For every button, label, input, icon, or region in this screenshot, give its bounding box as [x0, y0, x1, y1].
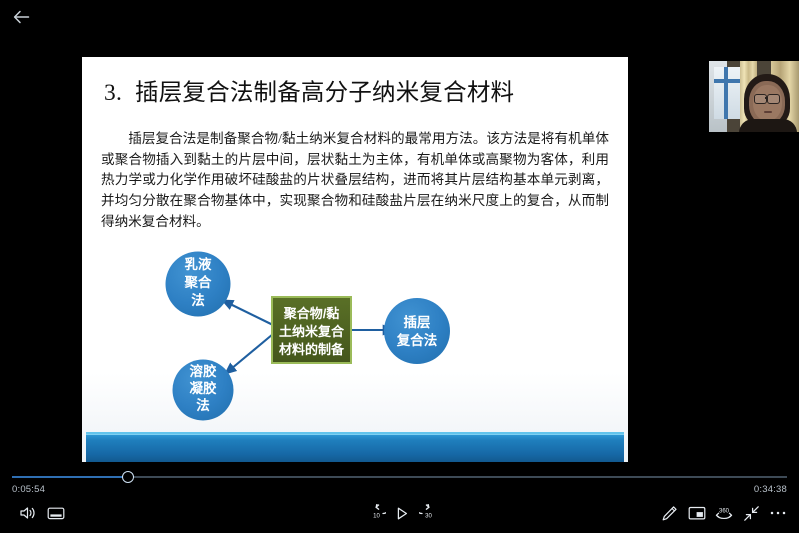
slide-title: 3.插层复合法制备高分子纳米复合材料	[104, 79, 614, 108]
slide-body-text: 插层复合法是制备聚合物/黏土纳米复合材料的最常用方法。该方法是将有机单体或聚合物…	[101, 129, 609, 232]
diagram-node-emulsion-polymerization: 乳液 聚合 法	[166, 252, 231, 317]
forward-30-icon: 30	[419, 504, 438, 522]
rotate-360-button[interactable]: 360	[710, 500, 738, 526]
rewind-10-button[interactable]: 10	[362, 500, 390, 526]
play-button[interactable]	[388, 500, 416, 526]
node-intercalation-line1: 插层	[404, 314, 431, 330]
seek-bar[interactable]	[12, 476, 787, 478]
forward-30-button[interactable]: 30	[414, 500, 442, 526]
player-controls: 0:05:54 0:34:38 10	[0, 462, 799, 533]
slide-title-text: 插层复合法制备高分子纳米复合材料	[135, 80, 514, 106]
arrow-center-to-emulsion	[222, 300, 273, 325]
diagram-node-sol-gel: 溶胶 凝胶 法	[173, 360, 234, 421]
arrow-left-icon	[13, 10, 30, 24]
rewind-10-icon: 10	[367, 504, 386, 522]
rewind-10-badge: 10	[373, 513, 380, 519]
video-player: 3.插层复合法制备高分子纳米复合材料 插层复合法是制备聚合物/黏土纳米复合材料的…	[0, 0, 799, 533]
seek-bar-handle[interactable]	[122, 471, 134, 483]
webcam-glasses-bridge	[765, 97, 768, 99]
picture-in-picture-button[interactable]	[683, 500, 711, 526]
webcam-person-body	[739, 119, 797, 132]
webcam-window-frame-vertical	[724, 67, 728, 119]
slide-canvas: 3.插层复合法制备高分子纳米复合材料 插层复合法是制备聚合物/黏土纳米复合材料的…	[82, 57, 628, 462]
node-solgel-line3: 法	[196, 397, 210, 413]
node-emulsion-line1: 乳液	[185, 256, 212, 272]
volume-button[interactable]	[14, 500, 42, 526]
process-diagram: 乳液 聚合 法 溶胶 凝胶 法	[82, 242, 628, 432]
center-box-line1: 聚合物/黏	[283, 306, 340, 321]
video-stage[interactable]: 3.插层复合法制备高分子纳米复合材料 插层复合法是制备聚合物/黏土纳米复合材料的…	[0, 0, 799, 462]
presenter-webcam-video	[709, 61, 799, 132]
back-button[interactable]	[8, 5, 34, 29]
diagram-center-box: 聚合物/黏 土纳米复合 材料的制备	[272, 297, 351, 363]
webcam-window-frame-horizontal	[714, 79, 740, 83]
forward-30-badge: 30	[425, 513, 432, 519]
rotate-360-badge: 360	[719, 508, 730, 514]
node-emulsion-line2: 聚合	[184, 274, 212, 290]
exit-fullscreen-icon	[743, 505, 760, 522]
more-options-button[interactable]	[764, 500, 792, 526]
node-solgel-line1: 溶胶	[190, 363, 217, 379]
diagram-node-intercalation: 插层 复合法	[384, 298, 450, 364]
exit-fullscreen-button[interactable]	[737, 500, 765, 526]
presentation-slide: 3.插层复合法制备高分子纳米复合材料 插层复合法是制备聚合物/黏土纳米复合材料的…	[82, 57, 628, 462]
current-time-label: 0:05:54	[12, 484, 45, 495]
center-box-line3: 材料的制备	[279, 342, 345, 357]
slide-footer-bar	[86, 434, 624, 462]
arrow-center-to-solgel	[225, 334, 273, 374]
webcam-glasses-right	[767, 94, 780, 104]
node-solgel-line2: 凝胶	[190, 380, 217, 396]
node-intercalation-line2: 复合法	[396, 332, 438, 348]
pencil-icon	[661, 505, 678, 522]
progress-row	[0, 470, 799, 484]
rotate-360-icon: 360	[714, 505, 734, 522]
slide-title-number: 3.	[104, 80, 122, 106]
webcam-glasses-left	[754, 94, 767, 104]
picture-in-picture-icon	[688, 506, 706, 520]
volume-icon	[19, 505, 38, 521]
draw-button[interactable]	[655, 500, 683, 526]
play-icon	[395, 506, 409, 521]
more-options-icon	[769, 510, 787, 516]
presenter-webcam[interactable]	[695, 52, 799, 140]
center-box-line2: 土纳米复合	[279, 324, 345, 339]
captions-button[interactable]	[42, 500, 70, 526]
seek-bar-progress	[12, 476, 128, 478]
node-emulsion-line3: 法	[191, 292, 205, 308]
player-top-bar	[0, 0, 799, 34]
total-time-label: 0:34:38	[754, 484, 787, 495]
captions-icon	[47, 506, 65, 520]
